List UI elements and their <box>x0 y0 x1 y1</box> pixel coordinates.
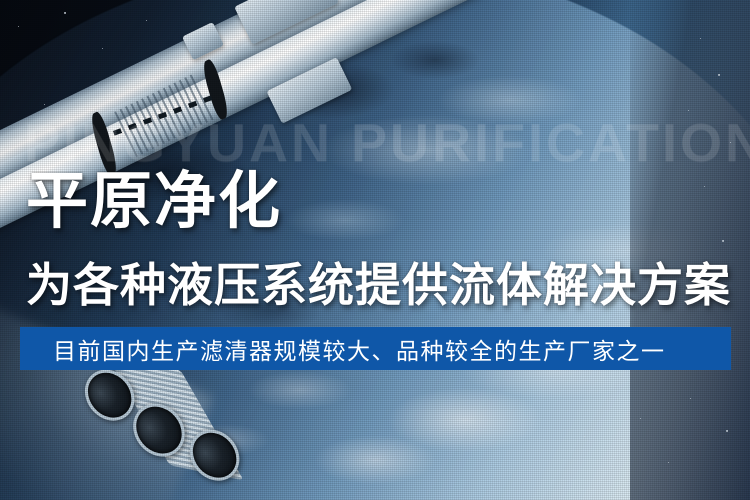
hero-banner: PINGYUAN PURIFICATION 平原净化 为各种液压系统提供流体解决… <box>0 0 750 500</box>
tagline-text: 目前国内生产滤清器规模较大、品种较全的生产厂家之一 <box>53 332 666 366</box>
banner-title: 平原净化 <box>26 168 282 236</box>
rocket-fin <box>496 0 540 16</box>
tagline-ribbon: 目前国内生产滤清器规模较大、品种较全的生产厂家之一 <box>20 327 731 370</box>
banner-subtitle: 为各种液压系统提供流体解决方案 <box>26 259 731 312</box>
